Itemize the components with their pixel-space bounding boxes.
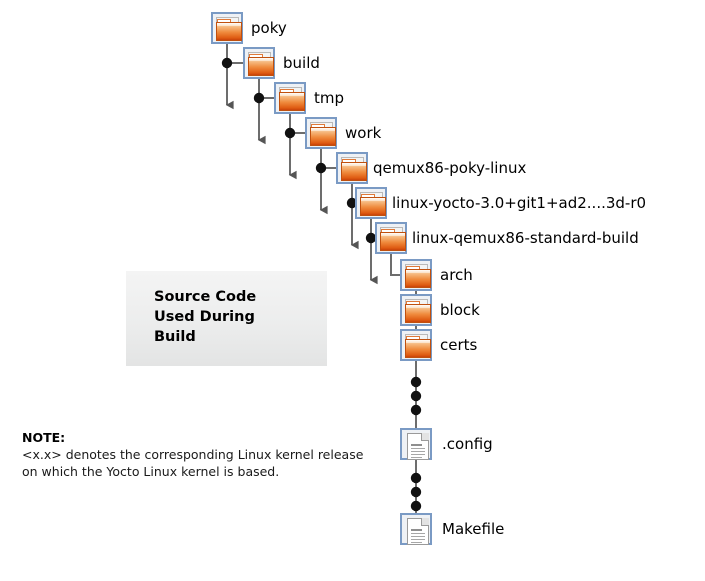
folder-icon[interactable] [400,294,432,326]
node-label-block: block [440,303,480,318]
document-icon[interactable] [400,428,432,460]
node-label-linux-qemux86-standard-build: linux-qemux86-standard-build [412,231,639,246]
tree-connectors [0,0,705,581]
folder-icon[interactable] [336,152,368,184]
node-label-config: .config [442,437,493,452]
folder-icon[interactable] [355,187,387,219]
node-label-poky: poky [251,21,287,36]
node-label-certs: certs [440,338,477,353]
folder-icon[interactable] [375,222,407,254]
diagram-canvas: poky build tmp work qemux86-poky-linux l… [0,0,705,581]
node-label-work: work [345,126,381,141]
note-block: NOTE: <x.x> denotes the corresponding Li… [22,430,382,480]
note-body: <x.x> denotes the corresponding Linux ke… [22,446,382,480]
folder-icon[interactable] [211,12,243,44]
node-label-arch: arch [440,268,473,283]
folder-icon[interactable] [400,329,432,361]
node-label-linux-yocto: linux-yocto-3.0+git1+ad2....3d-r0 [392,196,646,211]
node-label-makefile: Makefile [442,522,504,537]
folder-icon[interactable] [274,82,306,114]
source-code-callout: Source Code Used During Build [126,271,327,366]
node-label-tmp: tmp [314,91,344,106]
note-title: NOTE: [22,430,382,446]
folder-icon[interactable] [243,47,275,79]
folder-icon[interactable] [305,117,337,149]
node-label-build: build [283,56,320,71]
callout-text: Source Code Used During Build [154,287,256,347]
folder-icon[interactable] [400,259,432,291]
node-label-qemux86-poky-linux: qemux86-poky-linux [373,161,526,176]
document-icon[interactable] [400,513,432,545]
